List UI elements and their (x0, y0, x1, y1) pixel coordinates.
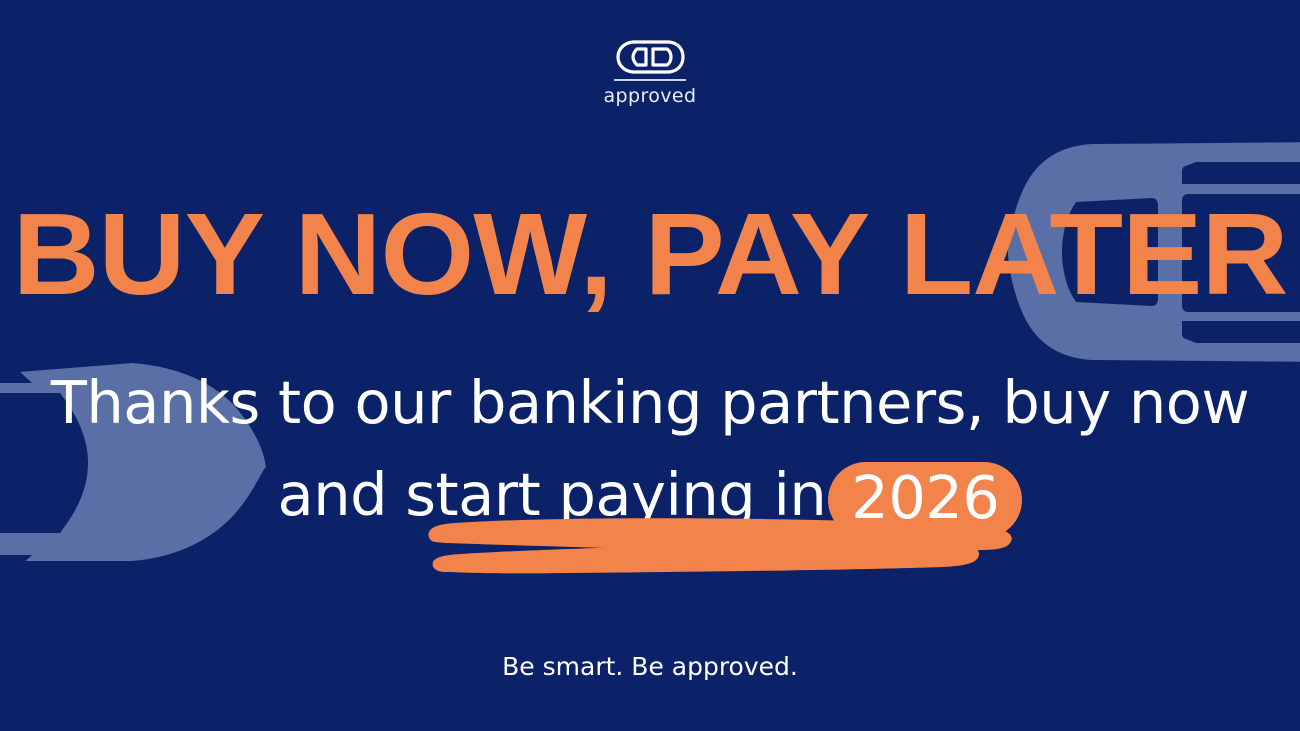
year-highlight-badge: 2026 (828, 462, 1022, 538)
brand-logo: approved (0, 38, 1300, 107)
car-top-view-icon (613, 38, 687, 76)
page-headline: BUY NOW, PAY LATER (0, 196, 1300, 312)
subheading-line-1: Thanks to our banking partners, buy now (0, 357, 1300, 449)
logo-divider (614, 79, 686, 81)
subheading: Thanks to our banking partners, buy now … (0, 357, 1300, 541)
tagline: Be smart. Be approved. (0, 652, 1300, 681)
promo-banner: approved BUY NOW, PAY LATER Thanks to ou… (0, 0, 1300, 731)
subheading-line-2-prefix: and start paying in (278, 460, 827, 529)
logo-wordmark: approved (604, 85, 697, 107)
subheading-line-2: and start paying in2026 (0, 449, 1300, 541)
